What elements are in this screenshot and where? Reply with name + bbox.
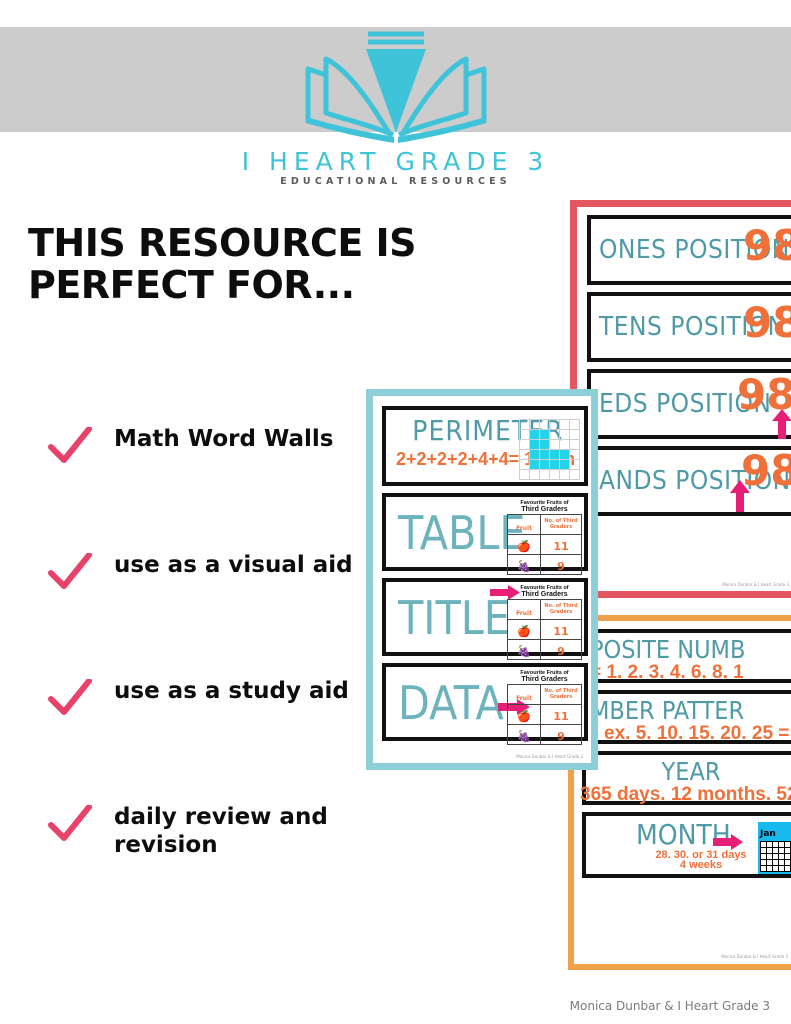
- list-item-label: use as a study aid: [114, 677, 408, 705]
- column-header-fruit: Fruit: [516, 695, 532, 702]
- list-item-label: use as a visual aid: [114, 551, 408, 579]
- word-wall-strip: TABLE Favourite Fruits of Third Graders …: [382, 493, 588, 571]
- strip-word: POSITE NUMB: [590, 635, 791, 664]
- check-icon: [48, 427, 92, 467]
- word-wall-strip: MBER PATTER ex. 5. 10. 15. 20. 25 =: [582, 690, 791, 744]
- number-vocab-card: POSITE NUMB = 1. 2. 3. 4. 6. 8. 1 MBER P…: [568, 615, 791, 970]
- page-title: THIS RESOURCE IS PERFECT FOR...: [28, 222, 458, 306]
- strip-subtext: = 1. 2. 3. 4. 6. 8. 1: [590, 662, 791, 684]
- table-row: 🍇 9: [508, 640, 582, 660]
- cell-value: 9: [557, 645, 565, 658]
- apple-icon: 🍎: [517, 710, 531, 723]
- word-wall-strip: EDS POSITION 98: [587, 369, 791, 439]
- list-item: Math Word Walls: [48, 425, 408, 489]
- cell-value: 11: [553, 710, 568, 723]
- flyer-page: I HEART GRADE 3 EDUCATIONAL RESOURCES TH…: [0, 0, 791, 1024]
- perimeter-grid: [519, 419, 580, 480]
- calendar-grid: [760, 841, 791, 872]
- grid-shape-figure: [519, 419, 580, 480]
- word-wall-strip: TITLE Favourite Fruits of Third Graders …: [382, 578, 588, 656]
- table-row: 🍎 11: [508, 620, 582, 640]
- word-wall-strip: POSITE NUMB = 1. 2. 3. 4. 6. 8. 1: [582, 629, 791, 683]
- grapes-icon: 🍇: [517, 560, 531, 573]
- cell-value: 9: [557, 560, 565, 573]
- list-item: use as a study aid: [48, 677, 408, 741]
- check-icon: [48, 553, 92, 593]
- word-wall-strip: DATA Favourite Fruits of Third Graders F…: [382, 663, 588, 741]
- word-wall-strip: TENS POSITION 98: [587, 292, 791, 362]
- list-item-label: daily review and revision: [114, 803, 408, 859]
- card-credit: Monica Dunbar & I Heart Grade 3: [721, 954, 788, 959]
- table-row: 🍎 11: [508, 535, 582, 555]
- strip-word: MBER PATTER: [590, 696, 791, 725]
- list-item: daily review and revision: [48, 803, 408, 867]
- column-header-count: No. of Third Graders: [541, 689, 581, 700]
- word-wall-strip: PERIMETER 2+2+2+2+4+4= 16 cm: [382, 406, 588, 486]
- table-header-row: Fruit No. of Third Graders: [508, 515, 582, 535]
- table-caption-line2: Third Graders: [507, 591, 582, 599]
- strip-subtext: ex. 5. 10. 15. 20. 25 =: [590, 723, 791, 745]
- table-grid: Fruit No. of Third Graders 🍎 11 🍇 9: [507, 684, 582, 745]
- right-arrow-icon: [713, 834, 743, 855]
- apple-icon: 🍎: [517, 625, 531, 638]
- grapes-icon: 🍇: [517, 645, 531, 658]
- column-header-fruit: Fruit: [516, 610, 532, 617]
- up-arrow-icon: [729, 480, 751, 517]
- table-caption-line2: Third Graders: [507, 676, 582, 684]
- table-row: 🍎 11: [508, 705, 582, 725]
- word-wall-strip: ONES POSITION 98: [587, 215, 791, 285]
- column-header-fruit: Fruit: [516, 525, 532, 532]
- cell-value: 11: [553, 540, 568, 553]
- check-icon: [48, 805, 92, 845]
- strip-word: DATA: [392, 667, 504, 739]
- cell-value: 9: [557, 730, 565, 743]
- column-header-count: No. of Third Graders: [541, 604, 581, 615]
- table-grid: Fruit No. of Third Graders 🍎 11 🍇 9: [507, 514, 582, 575]
- strip-number: 98: [743, 302, 791, 344]
- table-grid: Fruit No. of Third Graders 🍎 11 🍇 9: [507, 599, 582, 660]
- data-mini-table: Favourite Fruits of Third Graders Fruit …: [507, 500, 582, 575]
- data-vocab-card: PERIMETER 2+2+2+2+4+4= 16 cm TABLE Favou…: [366, 389, 598, 770]
- cell-value: 11: [553, 625, 568, 638]
- strip-subtext: 365 days. 12 months. 52 w: [580, 784, 791, 806]
- strip-number: 98: [743, 225, 791, 267]
- word-wall-strip: MONTH 28. 30. or 31 days 4 weeks Jan: [582, 812, 791, 878]
- card-credit: Monica Dunbar & I Heart Grade 3: [722, 582, 789, 587]
- january-calendar: Jan: [758, 822, 791, 874]
- word-wall-strip: YEAR 365 days. 12 months. 52 w: [582, 751, 791, 805]
- table-caption-line2: Third Graders: [507, 506, 582, 514]
- column-header-count: No. of Third Graders: [541, 519, 581, 530]
- table-row: 🍇 9: [508, 725, 582, 745]
- list-item-label: Math Word Walls: [114, 425, 408, 453]
- open-book-pencil-logo-icon: [296, 29, 496, 149]
- grapes-icon: 🍇: [517, 730, 531, 743]
- table-header-row: Fruit No. of Third Graders: [508, 600, 582, 620]
- data-mini-table: Favourite Fruits of Third Graders Fruit …: [507, 585, 582, 660]
- check-icon: [48, 679, 92, 719]
- table-header-row: Fruit No. of Third Graders: [508, 685, 582, 705]
- calendar-month-label: Jan: [760, 829, 776, 839]
- list-item: use as a visual aid: [48, 551, 408, 615]
- benefits-list: Math Word Walls use as a visual aid use …: [48, 425, 408, 929]
- brand-name: I HEART GRADE 3: [0, 147, 791, 176]
- data-mini-table: Favourite Fruits of Third Graders Fruit …: [507, 670, 582, 745]
- card-credit: Monica Dunbar & I Heart Grade 3: [516, 754, 583, 759]
- page-footer: Monica Dunbar & I Heart Grade 3: [0, 999, 770, 1013]
- word-wall-strip: ANDS POSITION 98: [587, 446, 791, 516]
- strip-word: TABLE: [392, 497, 526, 569]
- table-row: 🍇 9: [508, 555, 582, 575]
- brand-tagline: EDUCATIONAL RESOURCES: [0, 176, 791, 187]
- strip-word: YEAR: [590, 757, 791, 786]
- up-arrow-icon: [771, 409, 791, 444]
- place-value-card: ONES POSITION 98 TENS POSITION 98 EDS PO…: [570, 200, 791, 598]
- apple-icon: 🍎: [517, 540, 531, 553]
